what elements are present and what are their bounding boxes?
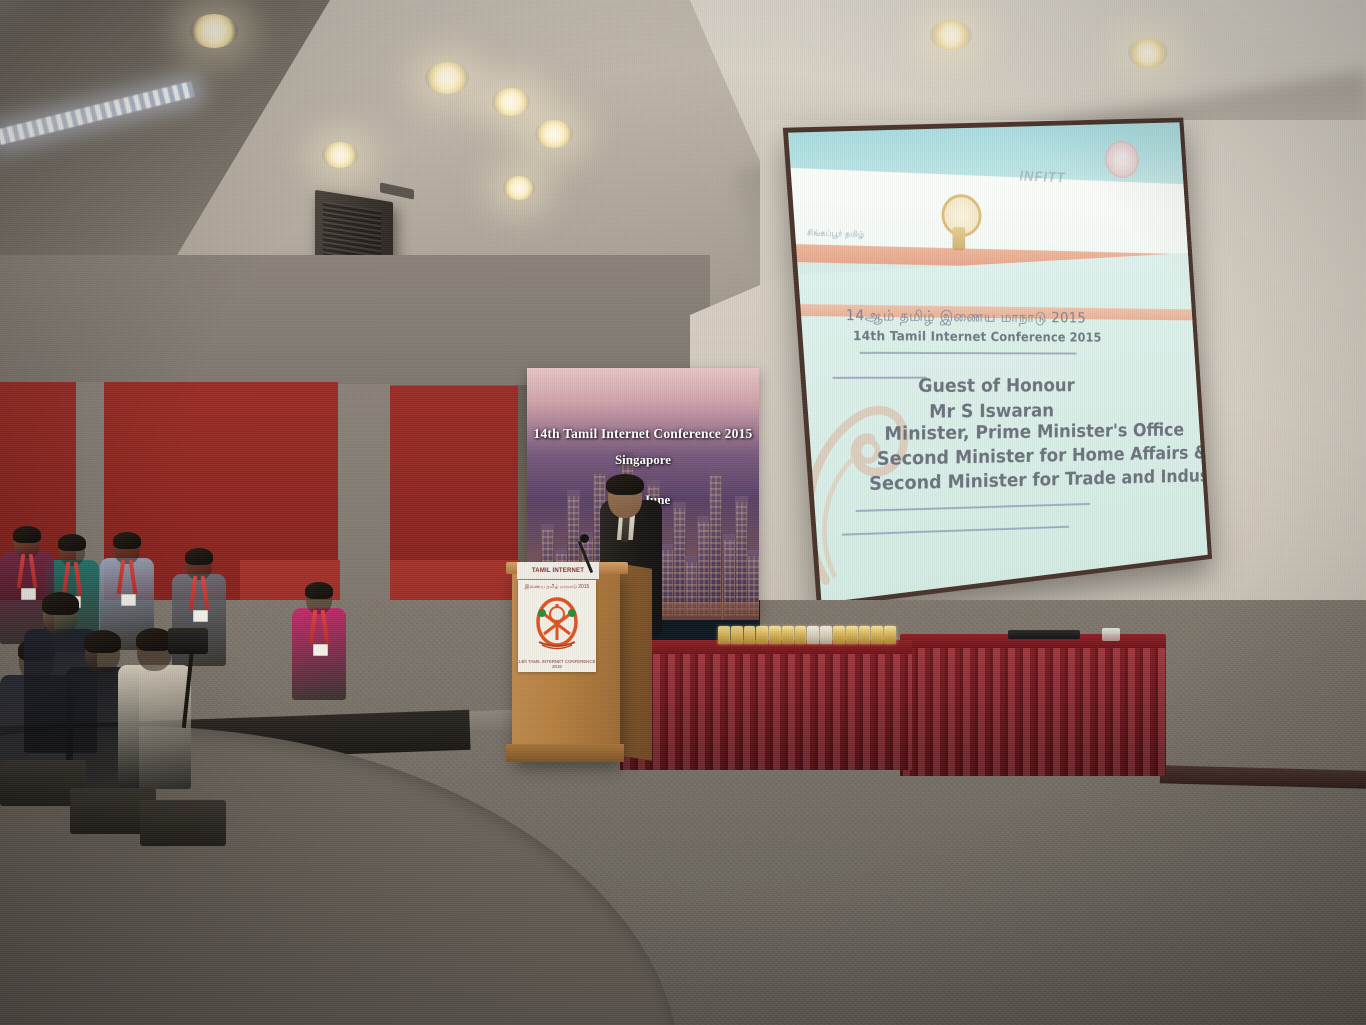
side-table <box>900 634 1166 776</box>
slide-rule-left <box>833 377 927 379</box>
conference-hall-photo: சிங்கப்பூர் தமிழ் INFITT 14ஆம் தமிழ் இணை… <box>0 0 1366 1025</box>
name-badge <box>313 644 328 656</box>
conference-logo-icon <box>530 596 584 652</box>
podium-base <box>506 744 624 762</box>
trophy-item[interactable] <box>859 626 871 644</box>
trophy-item[interactable] <box>871 626 883 644</box>
person-hair <box>185 548 213 565</box>
trophy-item[interactable] <box>846 626 858 644</box>
person-hair <box>113 532 141 549</box>
podium-side <box>618 563 652 760</box>
trophy-item[interactable] <box>744 626 756 644</box>
downlight-icon <box>190 14 238 48</box>
downlight-icon <box>535 120 573 148</box>
name-badge <box>193 610 208 622</box>
slide-tamil-title: 14ஆம் தமிழ் இணைய மாநாடு 2015 <box>846 306 1086 328</box>
trophy-item[interactable] <box>807 626 819 644</box>
microphone-icon <box>580 534 589 543</box>
infitt-logo-label: INFITT <box>1019 168 1080 187</box>
podium-header-label: TAMIL INTERNET <box>532 568 584 574</box>
person-hair <box>58 534 86 551</box>
downlight-icon <box>492 88 530 116</box>
slide-guest-label: Guest of Honour <box>918 375 1075 397</box>
person-hair <box>13 526 41 543</box>
podium-tamil-label: இணைய தமிழ் மாநாடு 2015 <box>518 584 596 590</box>
trophy-item[interactable] <box>769 626 781 644</box>
table-folder[interactable] <box>1008 630 1080 639</box>
trophy-item[interactable] <box>884 626 896 644</box>
poster-city: Singapore <box>527 452 759 468</box>
podium-footer-label: 14th TAMIL INTERNET CONFERENCE 2015 <box>518 659 596 669</box>
downlight-icon <box>425 62 469 94</box>
trophy-item[interactable] <box>820 626 832 644</box>
wall-upper-grey <box>0 255 710 385</box>
person-torso <box>118 665 191 789</box>
downlight-icon <box>1128 38 1168 68</box>
downlight-icon <box>930 20 972 50</box>
person-hair <box>84 630 121 653</box>
award-trophies[interactable] <box>718 626 896 644</box>
trophy-item[interactable] <box>795 626 807 644</box>
slide-guest-name: Mr S Iswaran <box>929 400 1054 422</box>
person-hair <box>42 592 79 615</box>
chair <box>140 800 226 846</box>
trophy-item[interactable] <box>756 626 768 644</box>
projection-screen: சிங்கப்பூர் தமிழ் INFITT 14ஆம் தமிழ் இணை… <box>783 118 1212 609</box>
video-camera-icon <box>168 628 208 654</box>
partner-logo-icon <box>1105 140 1139 179</box>
slide-english-title: 14th Tamil Internet Conference 2015 <box>853 329 1102 345</box>
poster-title: 14th Tamil Internet Conference 2015 <box>527 426 759 442</box>
conference-emblem-icon <box>938 191 980 252</box>
name-badge <box>21 588 36 600</box>
downlight-icon <box>503 176 535 200</box>
table-glassware[interactable] <box>1102 628 1120 641</box>
awards-table <box>620 640 912 770</box>
name-badge <box>121 594 136 606</box>
person-hair <box>305 582 333 599</box>
trophy-item[interactable] <box>718 626 730 644</box>
downlight-icon <box>322 142 358 168</box>
projection-slide: சிங்கப்பூர் தமிழ் INFITT 14ஆம் தமிழ் இணை… <box>788 122 1208 603</box>
speaker-hair <box>606 474 644 495</box>
trophy-item[interactable] <box>731 626 743 644</box>
podium-logo-panel: இணைய தமிழ் மாநாடு 2015 14th TAMIL INTERN… <box>518 580 596 672</box>
trophy-item[interactable] <box>833 626 845 644</box>
trophy-item[interactable] <box>782 626 794 644</box>
